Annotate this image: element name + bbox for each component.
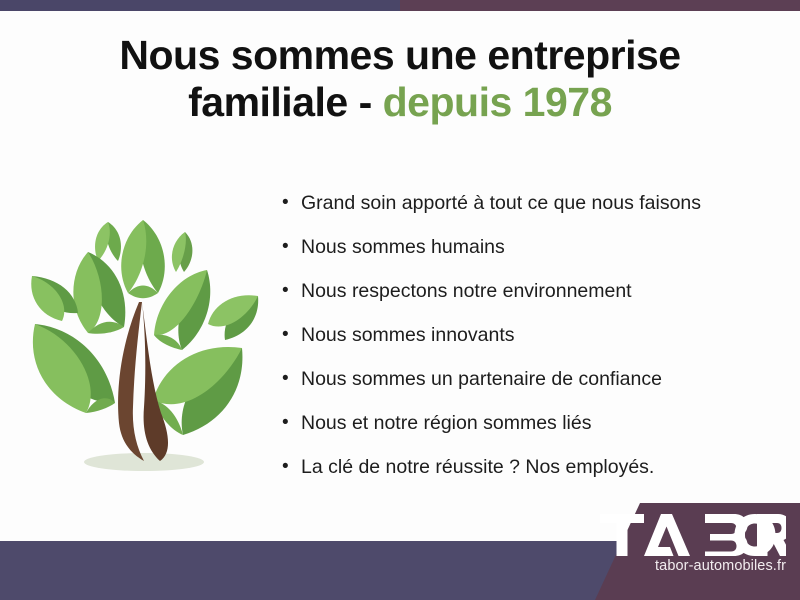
bullet-marker-icon: • <box>282 366 301 392</box>
bullet-marker-icon: • <box>282 234 301 260</box>
tree-illustration <box>20 185 270 485</box>
list-item-label: Nous sommes un partenaire de confiance <box>301 366 662 392</box>
list-item: • Nous sommes humains <box>282 234 782 278</box>
list-item: • Nous sommes un partenaire de confiance <box>282 366 782 410</box>
list-item-label: Nous sommes innovants <box>301 322 515 348</box>
leaf-lower-right-large <box>153 347 242 435</box>
bullet-marker-icon: • <box>282 190 301 216</box>
leaf-far-left-mid <box>31 276 78 321</box>
list-item: • Nous sommes innovants <box>282 322 782 366</box>
leaf-lower-left-large <box>33 324 115 413</box>
bullet-marker-icon: • <box>282 278 301 304</box>
slide-canvas: Nous sommes une entreprise familiale - d… <box>0 0 800 600</box>
tree-ground-shadow <box>84 453 204 471</box>
list-item: • Nous respectons notre environnement <box>282 278 782 322</box>
leaf-small-upper-right <box>172 232 193 272</box>
leaf-top-center <box>121 220 165 298</box>
slide-title: Nous sommes une entreprise familiale - d… <box>0 32 800 125</box>
leaf-small-upper-left <box>95 222 121 261</box>
list-item-label: La clé de notre réussite ? Nos employés. <box>301 454 654 480</box>
value-proposition-list: • Grand soin apporté à tout ce que nous … <box>282 190 782 498</box>
top-accent-bar-right-segment <box>400 0 800 11</box>
list-item-label: Nous respectons notre environnement <box>301 278 632 304</box>
list-item-label: Nous sommes humains <box>301 234 505 260</box>
slide-title-line-2: familiale - depuis 1978 <box>0 79 800 126</box>
tabor-wordmark-icon <box>600 514 786 556</box>
bullet-marker-icon: • <box>282 322 301 348</box>
tree-illustration-svg <box>20 185 270 485</box>
list-item: • La clé de notre réussite ? Nos employé… <box>282 454 782 498</box>
list-item-label: Nous et notre région sommes liés <box>301 410 591 436</box>
slide-title-line-2-accent: depuis 1978 <box>383 79 612 125</box>
leaf-upper-left-large <box>73 252 125 334</box>
bullet-marker-icon: • <box>282 410 301 436</box>
slide-title-line-1: Nous sommes une entreprise <box>0 32 800 79</box>
list-item-label: Grand soin apporté à tout ce que nous fa… <box>301 190 701 216</box>
brand-website-url[interactable]: tabor-automobiles.fr <box>596 558 786 574</box>
leaf-far-right-mid <box>208 295 258 340</box>
brand-logo[interactable]: tabor-automobiles.fr <box>596 514 786 574</box>
list-item: • Nous et notre région sommes liés <box>282 410 782 454</box>
slide-title-line-2-main: familiale - <box>188 79 372 125</box>
bullet-marker-icon: • <box>282 454 301 480</box>
list-item: • Grand soin apporté à tout ce que nous … <box>282 190 782 234</box>
top-accent-bar <box>0 0 800 11</box>
top-accent-bar-left-segment <box>0 0 400 11</box>
